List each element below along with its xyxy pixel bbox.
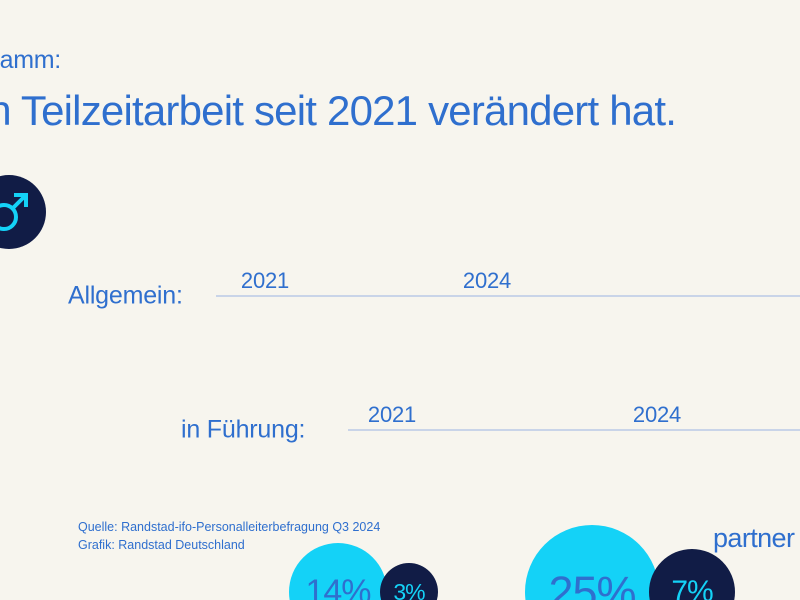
source-line-2: Grafik: Randstad Deutschland (78, 536, 380, 554)
year-label: 2024 (633, 404, 681, 426)
value-bubble: 3% (380, 563, 438, 600)
source-note: Quelle: Randstad-ifo-Personalleiterbefra… (78, 518, 380, 554)
kicker-text: gramm: (0, 48, 61, 73)
value-bubble: 25% (525, 525, 659, 600)
year-label: 2024 (463, 270, 511, 292)
gender-badge (0, 175, 46, 249)
infographic-canvas: gramm: ch Teilzeitarbeit seit 2021 verän… (0, 0, 800, 600)
row-axis-line (348, 429, 800, 431)
brand-logo: partner (713, 525, 794, 552)
row-axis-line (216, 295, 800, 297)
source-line-1: Quelle: Randstad-ifo-Personalleiterbefra… (78, 518, 380, 536)
page-title: ch Teilzeitarbeit seit 2021 verändert ha… (0, 88, 676, 133)
row-label: in Führung: (181, 418, 305, 443)
year-label: 2021 (368, 404, 416, 426)
row-label: Allgemein: (68, 284, 183, 309)
year-label: 2021 (241, 270, 289, 292)
value-bubble: 7% (649, 549, 735, 600)
